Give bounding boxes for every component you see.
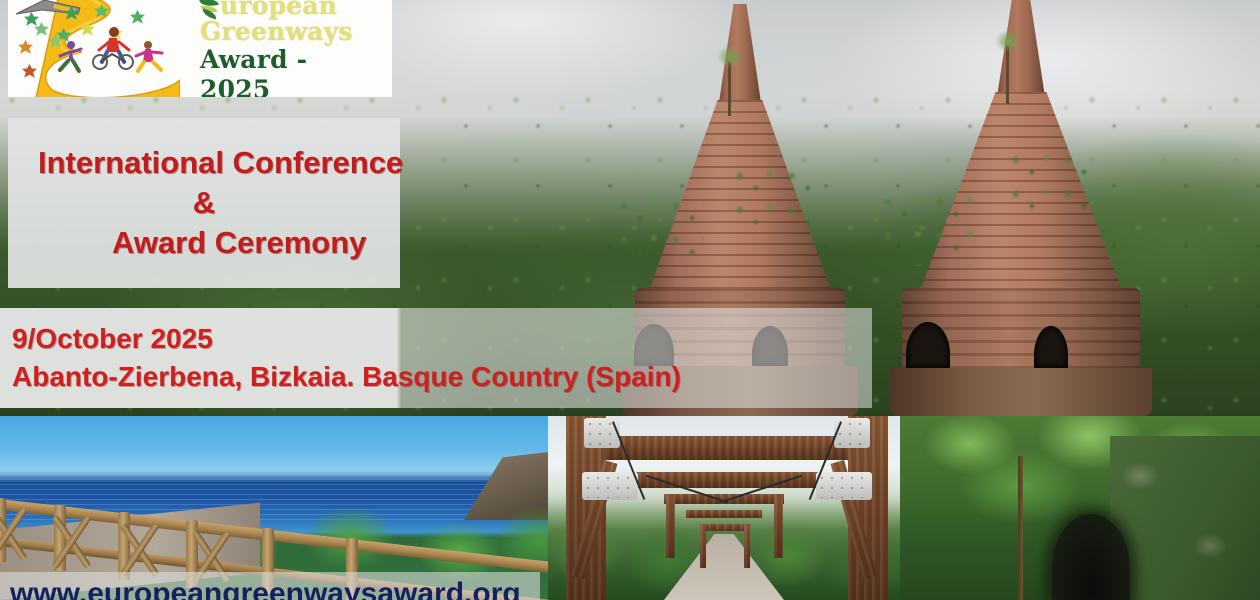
bridge-post-mid — [666, 494, 675, 558]
cyclist-figure-icon — [92, 26, 136, 72]
bridge-steel-plate — [582, 472, 638, 500]
conference-title-panel: International Conference & Award Ceremon… — [8, 118, 400, 288]
european-greenways-award-logo: uropean Greenways Award - 2025 — [8, 0, 392, 97]
bridge-steel-plate — [816, 472, 872, 500]
event-details-panel: 9/October 2025 Abanto-Zierbena, Bizkaia.… — [0, 308, 872, 408]
bridge-post-far — [700, 524, 706, 568]
greenways-path-illustration — [8, 0, 200, 97]
conference-title-ampersand: & — [38, 183, 400, 223]
tree-trunk — [1018, 456, 1023, 600]
event-location: Abanto-Zierbena, Bizkaia. Basque Country… — [12, 358, 872, 396]
walker-figure-icon — [52, 40, 84, 76]
logo-line-award-year: Award - 2025 — [200, 45, 384, 97]
bridge-post-far — [744, 524, 750, 568]
green-leaf-e-icon — [200, 0, 220, 18]
event-date: 9/October 2025 — [12, 320, 872, 358]
website-url[interactable]: www.europeangreenwaysaward.org — [10, 579, 521, 600]
bridge-crossbeam-far — [686, 510, 762, 518]
bridge-crossbeam-far — [700, 524, 748, 531]
bridge-post-mid — [774, 494, 783, 558]
conference-title-line3: Award Ceremony — [38, 223, 400, 263]
conference-title-line1: International Conference — [38, 143, 400, 183]
skater-figure-icon — [134, 40, 172, 78]
logo-line-greenways: Greenways — [200, 19, 384, 45]
logo-wordmark: uropean Greenways Award - 2025 — [200, 0, 392, 97]
greenway-tunnel-photo — [900, 416, 1260, 600]
event-poster: uropean Greenways Award - 2025 Internati… — [0, 0, 1260, 600]
lime-kiln-right — [856, 0, 1186, 416]
website-panel: www.europeangreenwaysaward.org — [0, 572, 540, 600]
rock-cutting-wall — [1110, 436, 1260, 600]
wooden-truss-bridge-photo — [548, 416, 900, 600]
